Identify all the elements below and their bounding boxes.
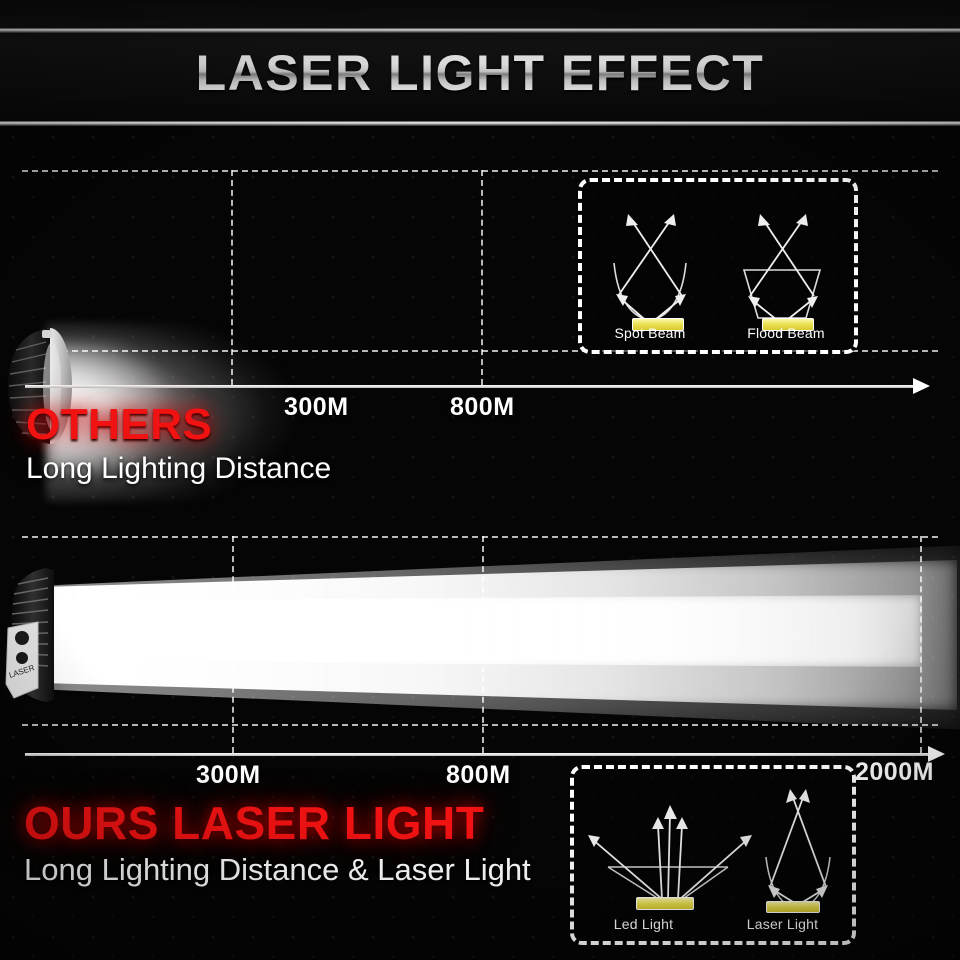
guide-line-bottom-ours xyxy=(22,724,938,726)
beam-core-ours xyxy=(42,595,922,667)
page-title: LASER LIGHT EFFECT xyxy=(0,44,960,102)
guide-line-top-ours xyxy=(22,536,938,538)
led-chip-laser-light xyxy=(766,901,820,913)
axis-arrow-icon xyxy=(913,378,930,394)
axis-tick-2000m-ours: 2000M xyxy=(855,758,934,787)
metal-divider-top xyxy=(0,28,960,33)
headline-others: OTHERS xyxy=(26,400,212,450)
header-banner: LASER LIGHT EFFECT xyxy=(0,0,960,126)
led-chip-led-light xyxy=(636,897,694,910)
axis-tick-300m-ours: 300M xyxy=(196,761,261,790)
section-others: 300M 800M OTHERS Long Lighting Distance xyxy=(0,130,960,520)
beam-pattern-box-bottom: Led Light Laser Light xyxy=(570,765,856,945)
guide-line-top xyxy=(22,170,938,172)
label-led-light: Led Light xyxy=(574,916,713,932)
metal-divider-bottom xyxy=(0,121,960,126)
axis-tick-800m-others: 800M xyxy=(450,393,515,422)
laser-light-bar-icon: LASER xyxy=(4,566,66,706)
guide-line-800m xyxy=(481,170,483,385)
infographic-root: LASER LIGHT EFFECT xyxy=(0,0,960,960)
beam-pattern-box-top: Spot Beam Flood Beam xyxy=(578,178,858,354)
subhead-others: Long Lighting Distance xyxy=(26,452,331,486)
section-ours: LASER 300M 800M 2000M OURS LASER LIGHT L… xyxy=(0,520,960,960)
distance-axis-others xyxy=(25,385,915,388)
axis-tick-300m-others: 300M xyxy=(284,393,349,422)
label-flood-beam: Flood Beam xyxy=(718,325,854,341)
label-laser-light: Laser Light xyxy=(713,916,852,932)
headline-ours: OURS LASER LIGHT xyxy=(24,796,484,850)
axis-tick-800m-ours: 800M xyxy=(446,761,511,790)
distance-axis-ours xyxy=(25,753,930,756)
subhead-ours: Long Lighting Distance & Laser Light xyxy=(24,852,531,888)
label-spot-beam: Spot Beam xyxy=(582,325,718,341)
